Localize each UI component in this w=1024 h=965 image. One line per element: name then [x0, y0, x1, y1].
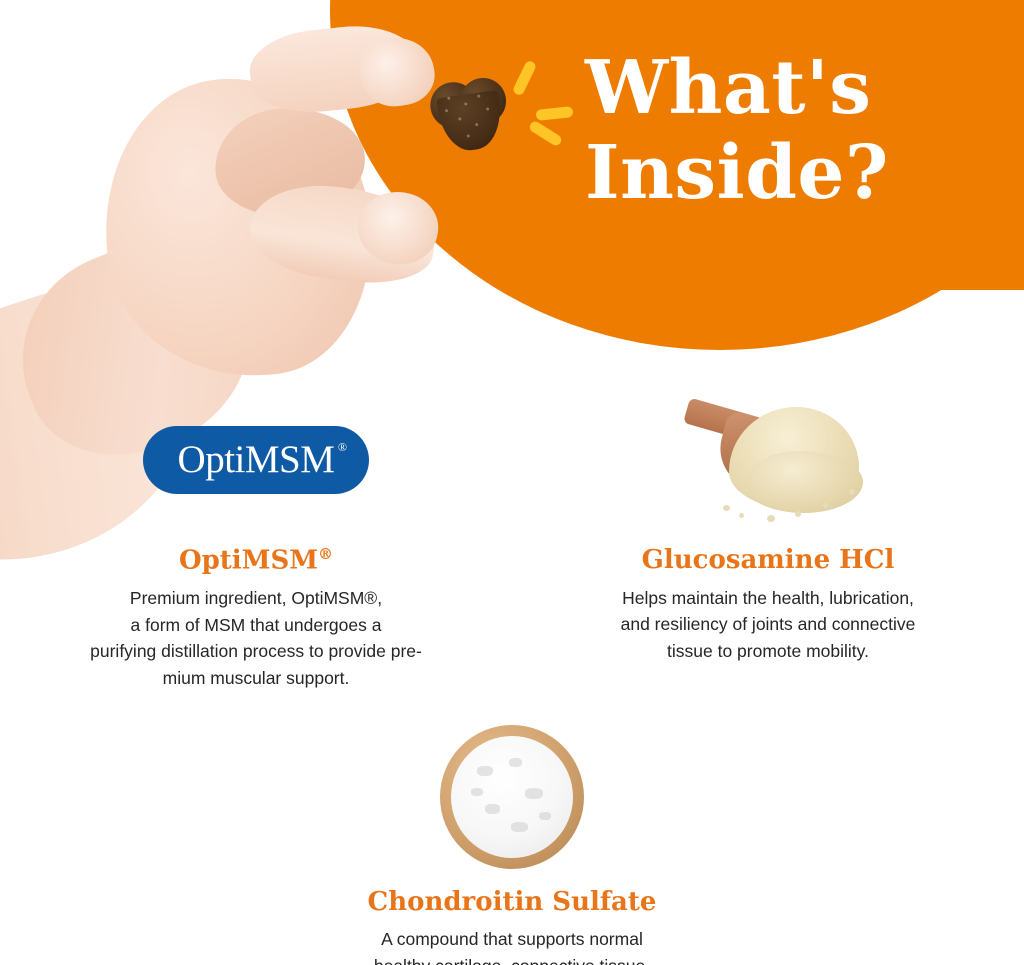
ingredients-row-top: OptiMSM ® OptiMSM® Premium ingredient, O… [0, 390, 1024, 692]
powder-flake [477, 766, 493, 776]
registered-trademark-icon: ® [318, 545, 333, 563]
powder-bowl-image [440, 725, 584, 869]
powder-crumb [849, 489, 855, 495]
ingredients-row-bottom: Chondroitin Sulfate A compound that supp… [0, 722, 1024, 965]
powder-scoop-image [663, 393, 873, 528]
ingredient-title-optimsm: OptiMSM® [28, 546, 484, 575]
powder-crumb [767, 515, 775, 522]
powder-flake [539, 812, 551, 820]
ingredient-title-chondroitin: Chondroitin Sulfate [0, 888, 1024, 917]
registered-trademark-icon: ® [338, 440, 347, 455]
ingredient-body-glucosamine: Helps maintain the health, lubrication, … [578, 585, 958, 665]
ingredients-section: OptiMSM ® OptiMSM® Premium ingredient, O… [0, 390, 1024, 965]
page-title: What's Inside? [585, 46, 1005, 216]
ingredient-title-text: OptiMSM [179, 546, 318, 576]
powder-crumb [823, 503, 828, 508]
heart-treat-icon [427, 75, 512, 157]
white-powder [451, 736, 573, 858]
powder-crumb [739, 513, 744, 518]
ingredient-card-chondroitin: Chondroitin Sulfate A compound that supp… [0, 722, 1024, 965]
whats-inside-infographic: What's Inside? [0, 0, 1024, 965]
heart-point [436, 90, 505, 154]
ingredient-body-chondroitin: A compound that supports normal healthy … [332, 926, 692, 965]
optimsm-media: OptiMSM ® [28, 390, 484, 530]
optimsm-logo: OptiMSM ® [143, 426, 369, 494]
powder-crumb [795, 511, 801, 517]
ingredient-title-glucosamine: Glucosamine HCl [540, 546, 996, 575]
ingredient-body-optimsm: Premium ingredient, OptiMSM®, a form of … [46, 585, 466, 691]
ingredient-card-optimsm: OptiMSM ® OptiMSM® Premium ingredient, O… [0, 390, 512, 692]
powder-flake [525, 788, 543, 799]
powder-flake [471, 788, 483, 796]
ingredient-card-glucosamine: Glucosamine HCl Helps maintain the healt… [512, 390, 1024, 692]
powder-flake [485, 804, 500, 814]
glucosamine-media [540, 390, 996, 530]
powder-crumb [723, 505, 730, 511]
optimsm-logo-text: OptiMSM [178, 440, 335, 479]
powder-flake [511, 822, 528, 832]
tan-powder-pile-front [745, 451, 863, 513]
powder-flake [509, 758, 522, 767]
chondroitin-media [0, 722, 1024, 872]
